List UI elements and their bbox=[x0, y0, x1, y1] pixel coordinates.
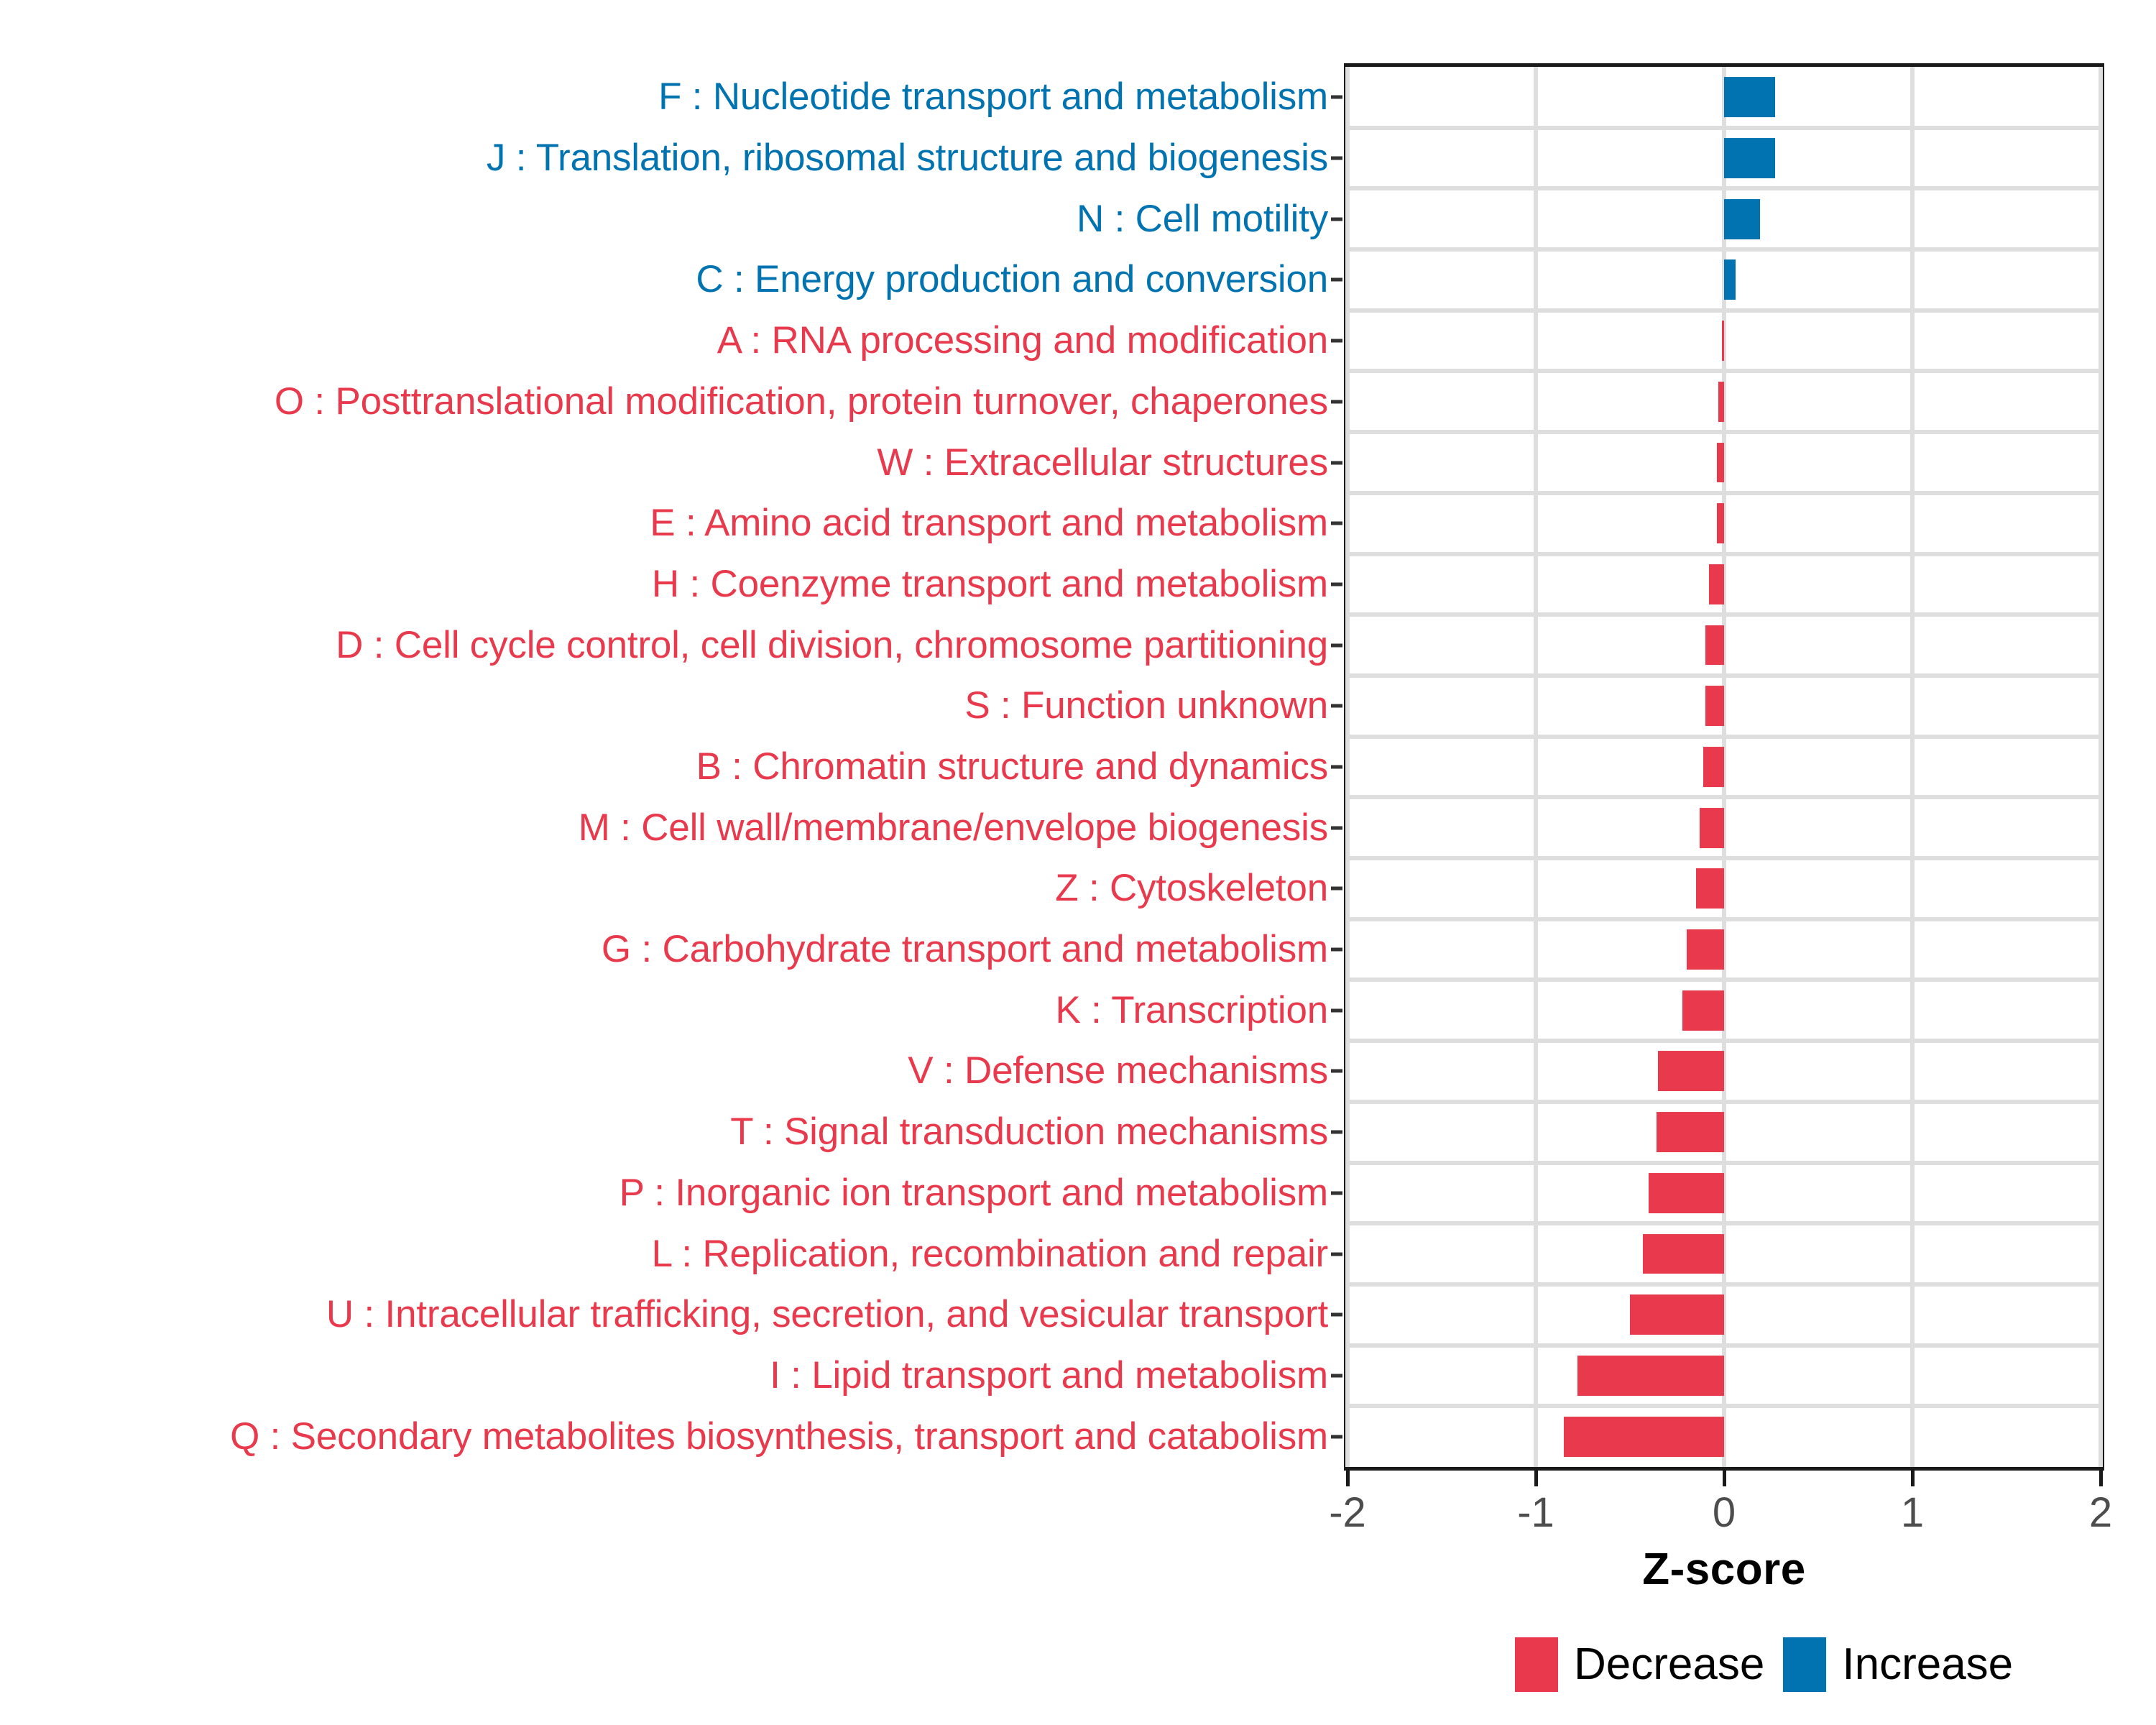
y-axis-tick bbox=[1331, 1313, 1342, 1317]
y-axis-category-label: T : Signal transduction mechanisms bbox=[730, 1112, 1328, 1152]
y-axis-tick bbox=[1331, 826, 1342, 829]
y-axis-category-label: V : Defense mechanisms bbox=[908, 1051, 1328, 1091]
bar-decrease[interactable] bbox=[1682, 990, 1724, 1031]
bar-decrease[interactable] bbox=[1630, 1294, 1724, 1335]
bar-decrease[interactable] bbox=[1718, 382, 1724, 422]
x-axis-tick-label: -1 bbox=[1517, 1488, 1554, 1538]
bar-row bbox=[1347, 493, 2101, 554]
x-axis-tick bbox=[1723, 1471, 1726, 1486]
y-axis-labels: F : Nucleotide transport and metabolismJ… bbox=[0, 63, 1328, 1471]
bar-increase[interactable] bbox=[1724, 138, 1775, 178]
bar-decrease[interactable] bbox=[1705, 686, 1724, 726]
x-axis-tick-label: -2 bbox=[1329, 1488, 1366, 1538]
x-axis-tick bbox=[1534, 1471, 1538, 1486]
legend-item-increase[interactable]: Increase bbox=[1783, 1637, 2013, 1692]
y-axis-tick bbox=[1331, 1435, 1342, 1438]
x-axis-tick-label: 2 bbox=[2089, 1488, 2112, 1538]
y-axis-tick bbox=[1331, 643, 1342, 647]
bar-decrease[interactable] bbox=[1564, 1417, 1724, 1457]
y-axis-tick bbox=[1331, 96, 1342, 99]
bar-row bbox=[1347, 737, 2101, 798]
bar-decrease[interactable] bbox=[1709, 564, 1724, 604]
y-axis-tick bbox=[1331, 217, 1342, 221]
y-axis-tick bbox=[1331, 1069, 1342, 1073]
bar-row bbox=[1347, 919, 2101, 980]
y-axis-tick bbox=[1331, 765, 1342, 769]
bar-increase[interactable] bbox=[1724, 77, 1775, 117]
y-axis-tick bbox=[1331, 887, 1342, 891]
cog-zscore-barchart: F : Nucleotide transport and metabolismJ… bbox=[0, 0, 2156, 1725]
x-axis-tick-label: 0 bbox=[1713, 1488, 1736, 1538]
y-axis-tick bbox=[1331, 157, 1342, 160]
y-axis-category-label: M : Cell wall/membrane/envelope biogenes… bbox=[579, 808, 1328, 848]
bar-decrease[interactable] bbox=[1717, 503, 1724, 543]
bar-row bbox=[1347, 1223, 2101, 1284]
y-axis-category-label: F : Nucleotide transport and metabolism bbox=[658, 77, 1328, 117]
y-axis-tick bbox=[1331, 339, 1342, 343]
y-axis-tick bbox=[1331, 522, 1342, 525]
y-axis-category-label: H : Coenzyme transport and metabolism bbox=[652, 564, 1328, 604]
bar-decrease[interactable] bbox=[1643, 1234, 1724, 1274]
y-axis-category-label: Z : Cytoskeleton bbox=[1055, 868, 1328, 908]
y-axis-category-label: D : Cell cycle control, cell division, c… bbox=[336, 625, 1328, 666]
bar-row bbox=[1347, 128, 2101, 189]
bar-row bbox=[1347, 676, 2101, 737]
x-axis-tick bbox=[2099, 1471, 2103, 1486]
y-axis-tick bbox=[1331, 948, 1342, 952]
y-axis-tick bbox=[1331, 1252, 1342, 1256]
y-axis-tick bbox=[1331, 400, 1342, 403]
bar-row bbox=[1347, 797, 2101, 858]
bar-decrease[interactable] bbox=[1657, 1112, 1724, 1152]
bar-row bbox=[1347, 615, 2101, 676]
bar-increase[interactable] bbox=[1724, 199, 1760, 239]
x-axis-tick bbox=[1911, 1471, 1915, 1486]
y-axis-category-label: G : Carbohydrate transport and metabolis… bbox=[602, 929, 1328, 970]
legend: Decrease Increase bbox=[1515, 1637, 2013, 1692]
bar-decrease[interactable] bbox=[1722, 321, 1724, 361]
bar-row bbox=[1347, 67, 2101, 128]
bars-layer bbox=[1347, 67, 2101, 1467]
bar-decrease[interactable] bbox=[1577, 1356, 1724, 1396]
bar-decrease[interactable] bbox=[1696, 868, 1724, 908]
bar-decrease[interactable] bbox=[1700, 808, 1724, 848]
y-axis-category-label: U : Intracellular trafficking, secretion… bbox=[326, 1294, 1328, 1335]
y-axis-category-label: L : Replication, recombination and repai… bbox=[652, 1234, 1328, 1274]
y-axis-category-label: O : Posttranslational modification, prot… bbox=[275, 382, 1328, 422]
y-axis-tick bbox=[1331, 1191, 1342, 1195]
bar-increase[interactable] bbox=[1724, 259, 1736, 300]
y-axis-tick bbox=[1331, 1131, 1342, 1134]
bar-row bbox=[1347, 980, 2101, 1041]
y-axis-category-label: W : Extracellular structures bbox=[877, 443, 1328, 483]
y-axis-category-label: A : RNA processing and modification bbox=[717, 321, 1328, 361]
bar-row bbox=[1347, 371, 2101, 432]
plot-area bbox=[1344, 63, 2104, 1471]
y-axis-tick bbox=[1331, 1374, 1342, 1377]
y-axis-category-label: Q : Secondary metabolites biosynthesis, … bbox=[230, 1417, 1328, 1457]
bar-row bbox=[1347, 1041, 2101, 1102]
legend-label-increase: Increase bbox=[1842, 1637, 2013, 1692]
bar-row bbox=[1347, 1345, 2101, 1407]
y-axis-tick bbox=[1331, 278, 1342, 282]
y-axis-category-label: I : Lipid transport and metabolism bbox=[770, 1356, 1328, 1396]
y-axis-tick bbox=[1331, 461, 1342, 464]
y-axis-tick bbox=[1331, 704, 1342, 708]
y-axis-tick bbox=[1331, 1008, 1342, 1012]
y-axis-category-label: B : Chromatin structure and dynamics bbox=[696, 747, 1328, 787]
bar-row bbox=[1347, 554, 2101, 615]
legend-swatch-decrease-icon bbox=[1515, 1637, 1558, 1692]
bar-decrease[interactable] bbox=[1649, 1173, 1724, 1213]
bar-decrease[interactable] bbox=[1717, 443, 1724, 483]
x-axis-tick bbox=[1346, 1471, 1350, 1486]
legend-item-decrease[interactable]: Decrease bbox=[1515, 1637, 1764, 1692]
y-axis-category-label: S : Function unknown bbox=[964, 686, 1328, 726]
bar-decrease[interactable] bbox=[1705, 625, 1724, 666]
y-axis-category-label: C : Energy production and conversion bbox=[696, 259, 1328, 300]
y-axis-category-label: E : Amino acid transport and metabolism bbox=[650, 503, 1328, 543]
bar-row bbox=[1347, 188, 2101, 249]
legend-swatch-increase-icon bbox=[1783, 1637, 1826, 1692]
bar-row bbox=[1347, 858, 2101, 919]
x-axis-title: Z-score bbox=[1344, 1544, 2104, 1595]
bar-row bbox=[1347, 249, 2101, 310]
y-axis-tick bbox=[1331, 582, 1342, 586]
bar-row bbox=[1347, 432, 2101, 493]
bar-row bbox=[1347, 310, 2101, 372]
x-axis-tick-label: 1 bbox=[1901, 1488, 1924, 1538]
y-axis-category-label: N : Cell motility bbox=[1077, 199, 1328, 239]
legend-label-decrease: Decrease bbox=[1574, 1637, 1764, 1692]
bar-decrease[interactable] bbox=[1703, 747, 1724, 787]
bar-decrease[interactable] bbox=[1687, 929, 1724, 970]
bar-row bbox=[1347, 1284, 2101, 1345]
y-axis-category-label: P : Inorganic ion transport and metaboli… bbox=[619, 1173, 1328, 1213]
bar-row bbox=[1347, 1163, 2101, 1224]
y-axis-category-label: J : Translation, ribosomal structure and… bbox=[487, 138, 1328, 178]
y-axis-category-label: K : Transcription bbox=[1055, 990, 1328, 1031]
bar-row bbox=[1347, 1102, 2101, 1163]
bar-row bbox=[1347, 1406, 2101, 1467]
bar-decrease[interactable] bbox=[1658, 1052, 1724, 1092]
